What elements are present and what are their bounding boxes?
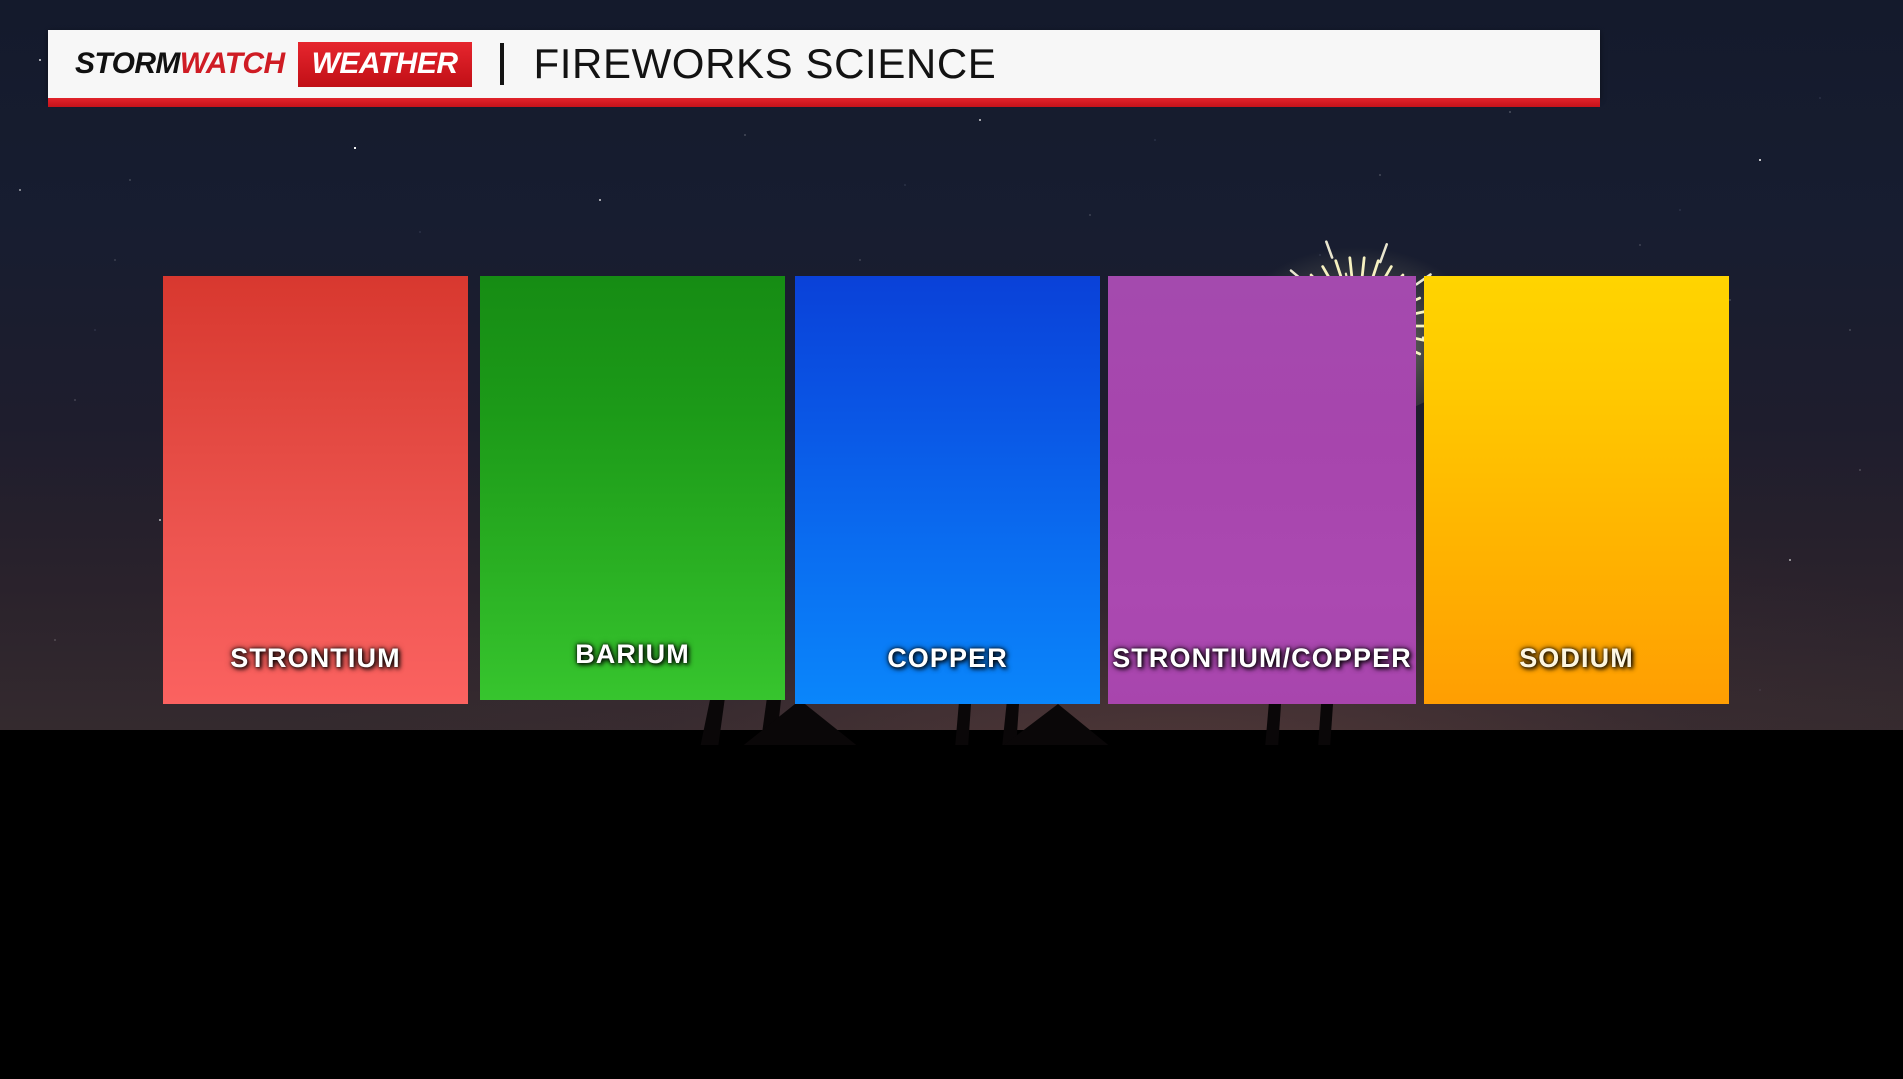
panel-label-strontium-copper: STRONTIUM/COPPER xyxy=(1112,643,1412,674)
panel-label-barium: BARIUM xyxy=(575,639,690,670)
panel-sodium[interactable]: SODIUM xyxy=(1424,276,1729,704)
panel-barium[interactable]: BARIUM xyxy=(480,276,785,700)
logo-watch-text: WATCH xyxy=(180,47,285,81)
stormwatch-weather-logo: STORMWATCH WEATHER xyxy=(48,30,472,98)
flame-color-panel-group: STRONTIUM BARIUM COPPER STRONTIUM/COPPER… xyxy=(0,0,1903,1079)
header-red-underline xyxy=(48,98,1600,107)
panel-copper[interactable]: COPPER xyxy=(795,276,1100,704)
logo-weather-text: WEATHER xyxy=(312,47,458,81)
panel-strontium-copper[interactable]: STRONTIUM/COPPER xyxy=(1108,276,1416,704)
panel-strontium[interactable]: STRONTIUM xyxy=(163,276,468,704)
panel-label-strontium: STRONTIUM xyxy=(230,643,400,674)
panel-label-sodium: SODIUM xyxy=(1519,643,1634,674)
logo-storm-text: STORM xyxy=(75,47,180,81)
header-divider xyxy=(500,43,504,85)
broadcast-graphic: STRONTIUM BARIUM COPPER STRONTIUM/COPPER… xyxy=(0,0,1903,1079)
logo-weather-badge: WEATHER xyxy=(298,42,472,87)
panel-label-copper: COPPER xyxy=(887,643,1008,674)
header-bar: STORMWATCH WEATHER FIREWORKS SCIENCE xyxy=(48,30,1600,98)
page-title: FIREWORKS SCIENCE xyxy=(534,40,997,88)
